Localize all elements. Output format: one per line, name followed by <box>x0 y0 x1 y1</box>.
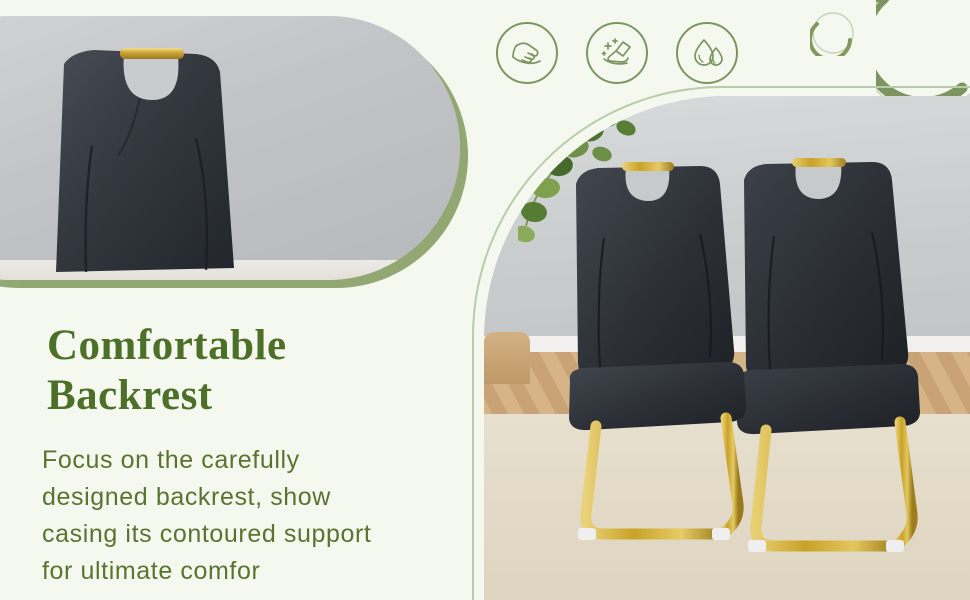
chair-backrest-detail-icon <box>20 38 280 280</box>
product-feature-banner: Comfortable Backrest Focus on the carefu… <box>0 0 970 600</box>
headline-line-1: Comfortable <box>47 322 287 369</box>
soft-touch-hand-icon <box>507 33 547 73</box>
body-line-1: Focus on the carefully <box>42 442 467 479</box>
headline-line-2: Backrest <box>47 371 467 421</box>
body-line-2: designed backrest, show <box>42 479 467 516</box>
page-title: Comfortable Backrest <box>47 321 467 421</box>
feature-description: Focus on the carefully designed backrest… <box>42 442 467 590</box>
badge-soft-touch[interactable] <box>496 22 558 84</box>
water-resistant-drops-icon <box>687 33 727 73</box>
woven-basket <box>484 332 530 384</box>
easy-clean-wipe-icon <box>597 33 637 73</box>
dining-chairs-room-photo <box>484 96 970 600</box>
decorative-ring-large-icon <box>876 0 970 96</box>
eucalyptus-sprig-icon <box>0 112 18 202</box>
feature-badge-row <box>496 22 738 84</box>
body-line-3: casing its contoured support <box>42 516 467 553</box>
badge-water-resistant[interactable] <box>676 22 738 84</box>
badge-easy-clean[interactable] <box>586 22 648 84</box>
decorative-ring-small-icon <box>810 10 856 56</box>
backrest-closeup-photo <box>0 16 460 280</box>
pill-photo-frame <box>0 16 460 280</box>
dining-chair-front <box>556 158 776 578</box>
body-line-4: for ultimate comfor <box>42 553 467 590</box>
